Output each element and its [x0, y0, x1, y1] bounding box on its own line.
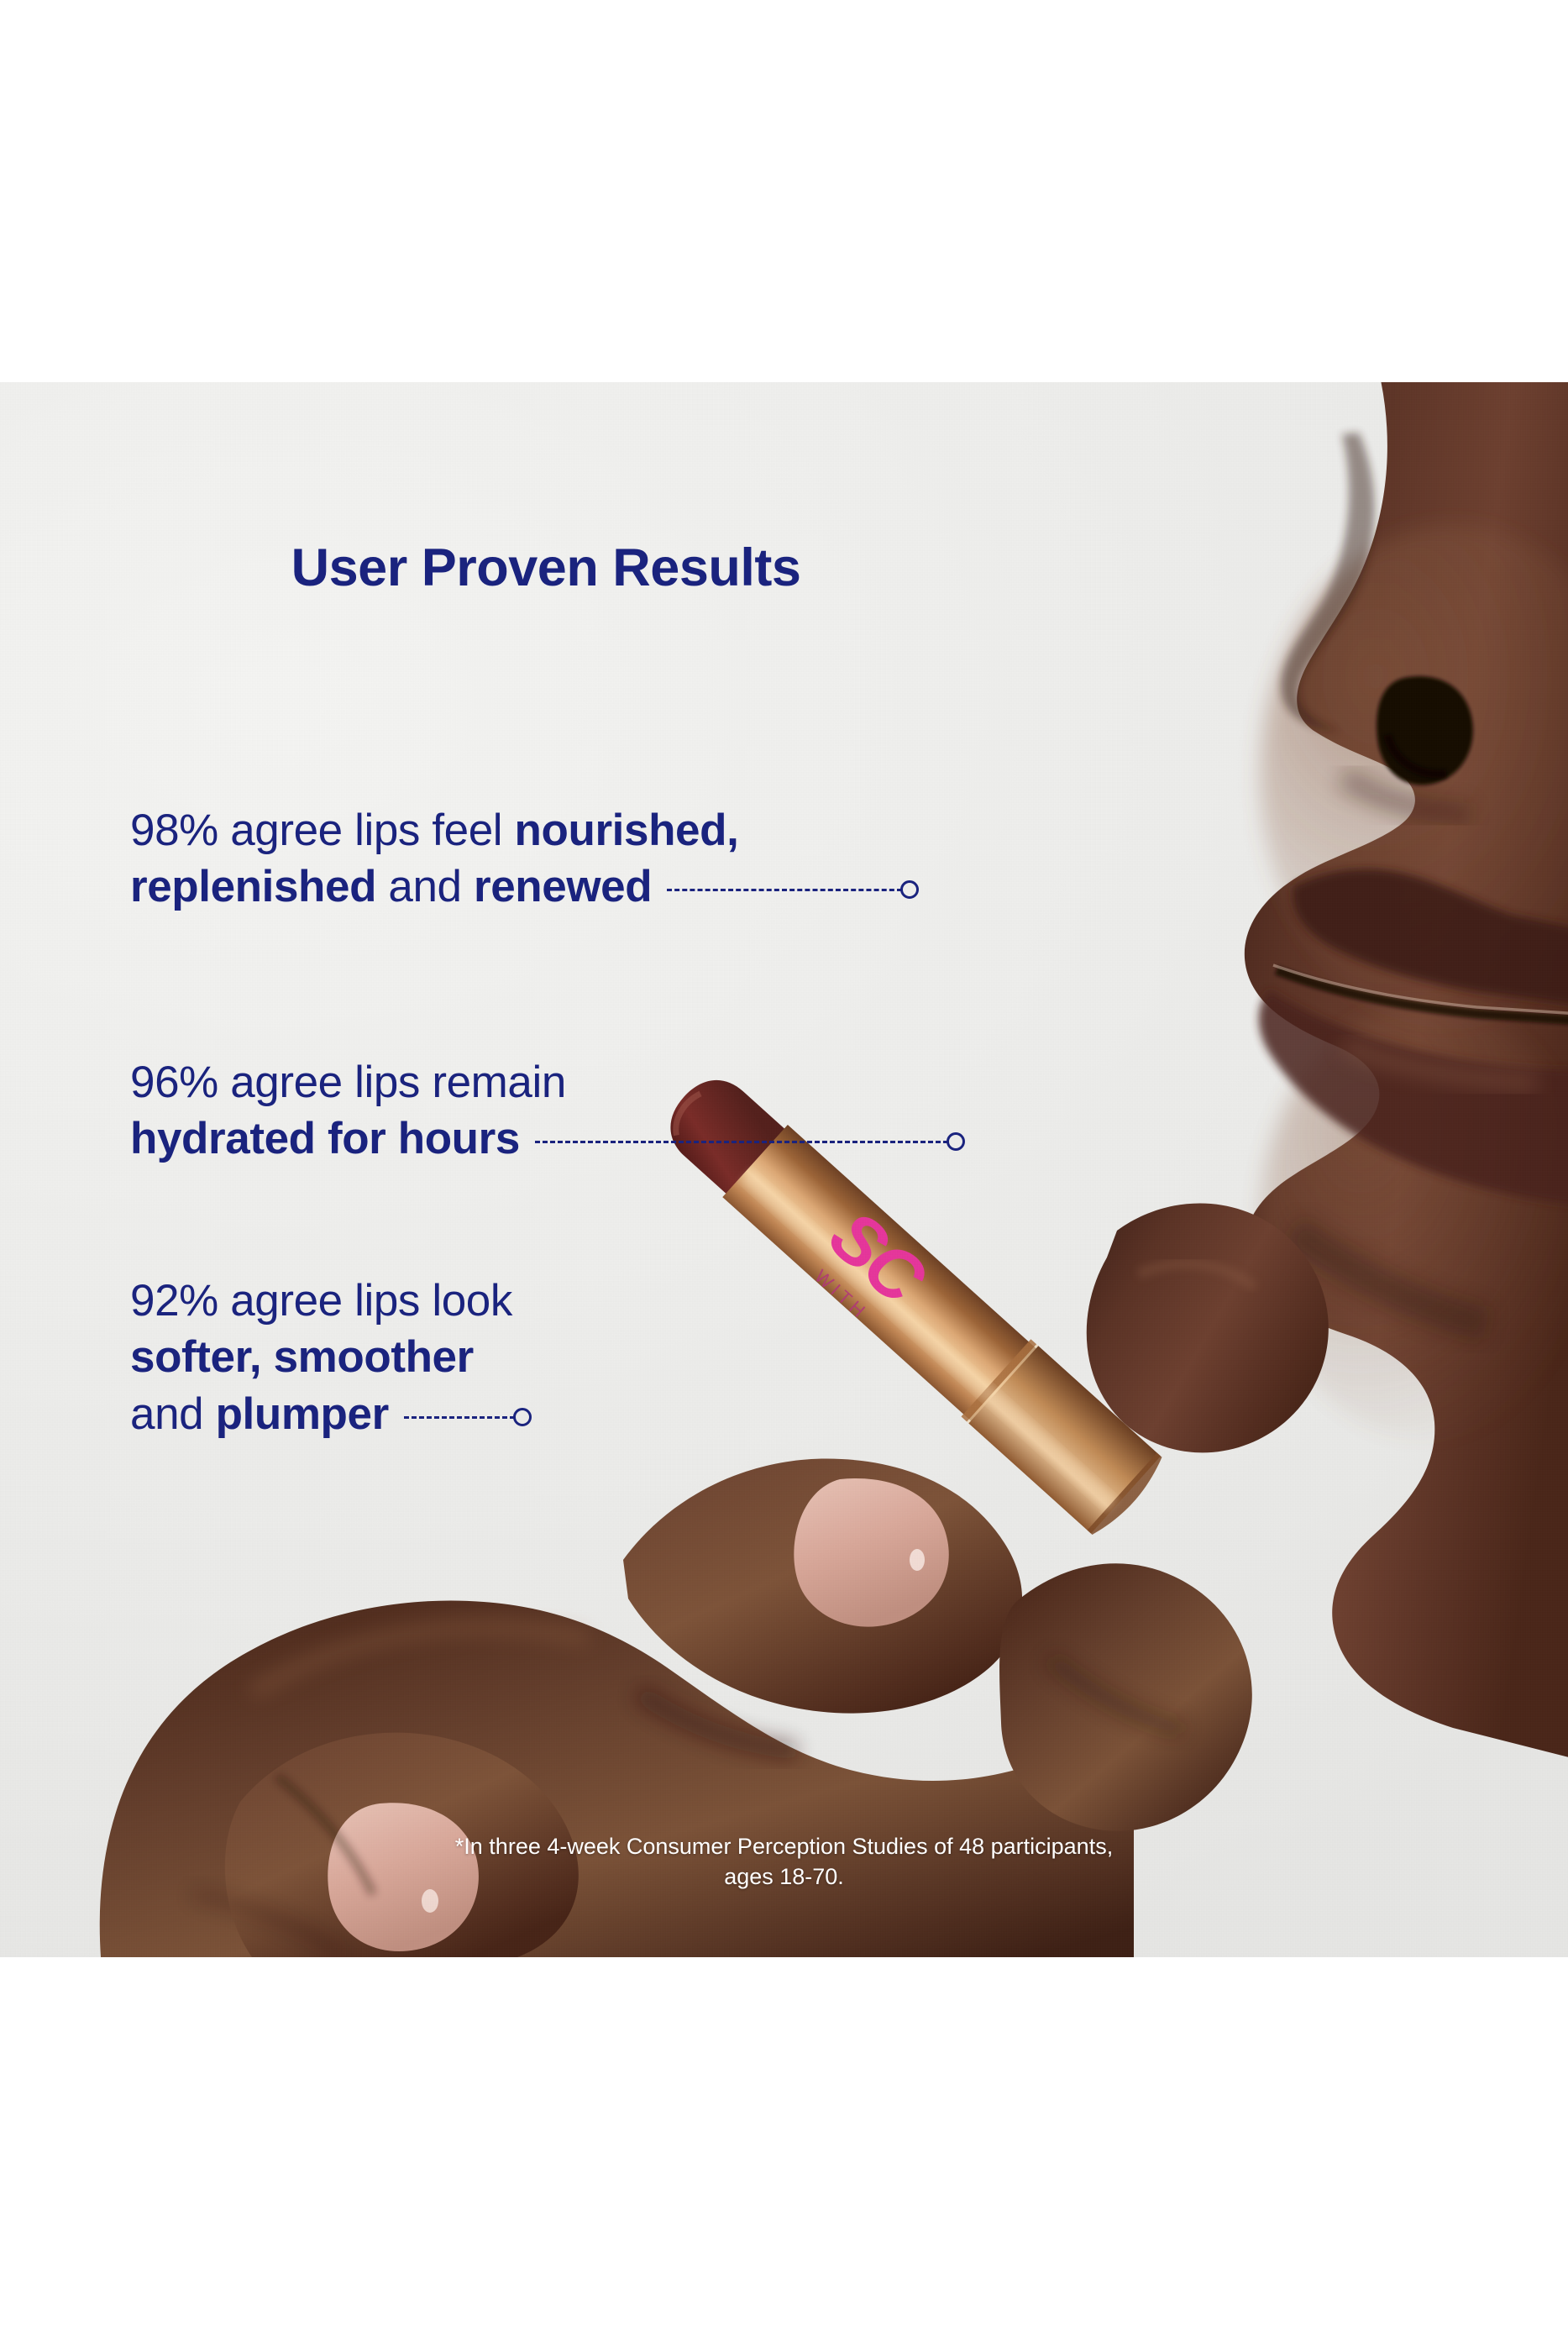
leader-ring-96: [947, 1132, 965, 1151]
claim-92-emphasis-2: plumper: [216, 1389, 389, 1439]
claim-98: 98% agree lips feel nourished, replenish…: [130, 802, 919, 916]
product-photo: SC WITH: [0, 382, 1568, 1957]
claim-92-line-1: 92% agree lips look: [130, 1273, 532, 1329]
claim-98-line-1: 98% agree lips feel nourished,: [130, 802, 919, 858]
claim-96-line-1: 96% agree lips remain: [130, 1054, 965, 1110]
claim-96-emphasis-1: hydrated for hours: [130, 1114, 520, 1163]
footnote-line-2: ages 18-70.: [277, 1861, 1291, 1892]
claim-92-conjunction: and: [130, 1389, 216, 1439]
claim-92: 92% agree lips look softer, smoother and…: [130, 1273, 532, 1442]
claim-98-emphasis-2: replenished: [130, 862, 376, 911]
face-profile: [1245, 382, 1568, 1760]
leader-line-92: [404, 1408, 532, 1426]
claim-96-stat-text: 96% agree lips remain: [130, 1058, 566, 1107]
leader-dash-98: [667, 889, 902, 891]
claim-96: 96% agree lips remain hydrated for hours: [130, 1054, 965, 1168]
leader-ring-98: [900, 880, 919, 899]
claim-92-stat-text: 92% agree lips look: [130, 1276, 512, 1326]
promo-image: SC WITH: [0, 0, 1568, 2352]
leader-dash-92: [404, 1416, 515, 1419]
claim-98-emphasis-3: renewed: [474, 862, 652, 911]
claim-98-stat-text: 98% agree lips feel: [130, 806, 515, 855]
footnote-line-1: *In three 4-week Consumer Perception Stu…: [277, 1831, 1291, 1861]
leader-ring-92: [513, 1408, 532, 1426]
claim-98-emphasis-1: nourished,: [515, 806, 739, 855]
claim-98-conjunction: and: [376, 862, 474, 911]
claim-96-line-2: hydrated for hours: [130, 1110, 965, 1167]
page-title: User Proven Results: [0, 538, 1092, 598]
footnote: *In three 4-week Consumer Perception Stu…: [0, 1831, 1568, 1893]
claim-92-line-2: softer, smoother: [130, 1329, 532, 1385]
leader-line-98: [667, 880, 919, 899]
leader-line-96: [535, 1132, 965, 1151]
claim-92-line-3: and plumper: [130, 1386, 532, 1442]
leader-dash-96: [535, 1141, 948, 1143]
claim-98-line-2: replenished and renewed: [130, 858, 919, 915]
claim-92-emphasis-1: softer, smoother: [130, 1332, 474, 1382]
content-band: SC WITH: [0, 382, 1568, 1957]
